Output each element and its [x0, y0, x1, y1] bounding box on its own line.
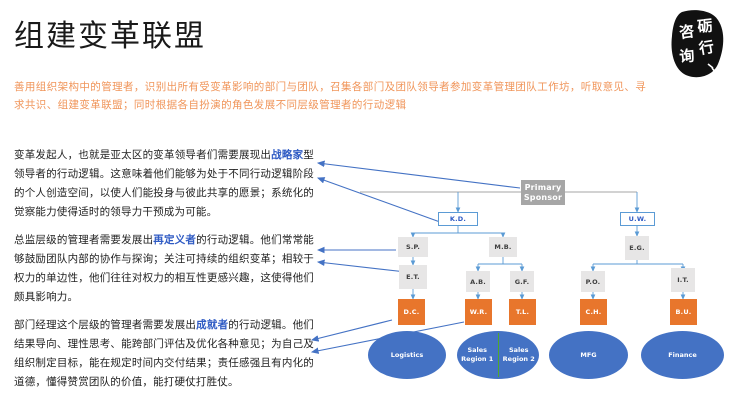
- org-unit-finance-label: Finance: [668, 351, 697, 360]
- org-node-uw[interactable]: U.W.: [620, 212, 655, 226]
- org-node-tl[interactable]: T.L.: [509, 299, 536, 325]
- slide-canvas: 组建变革联盟 善用组织架构中的管理者，识别出所有受变革影响的部门与团队，召集各部…: [0, 0, 736, 411]
- org-node-bu[interactable]: B.U.: [670, 299, 697, 325]
- org-unit-sales-region-2-label: Sales Region 2: [499, 346, 540, 364]
- org-node-kd[interactable]: K.D.: [438, 212, 478, 226]
- org-node-mb[interactable]: M.B.: [489, 237, 517, 257]
- org-node-eg[interactable]: E.G.: [625, 236, 649, 260]
- org-unit-sales[interactable]: Sales Region 1 Sales Region 2: [457, 331, 539, 379]
- org-unit-mfg[interactable]: MFG: [549, 331, 628, 379]
- org-node-sp[interactable]: S.P.: [398, 237, 428, 257]
- org-node-wr[interactable]: W.R.: [465, 299, 492, 325]
- org-node-et[interactable]: E.T.: [399, 265, 427, 289]
- org-node-gf[interactable]: G.F.: [510, 271, 534, 292]
- org-node-dc[interactable]: D.C.: [398, 299, 425, 325]
- org-unit-logistics-label: Logistics: [391, 351, 423, 360]
- org-node-ab[interactable]: A.B.: [466, 271, 490, 292]
- org-node-ch[interactable]: C.H.: [580, 299, 607, 325]
- org-node-it[interactable]: I.T.: [671, 268, 695, 292]
- org-node-po[interactable]: P.O.: [581, 271, 605, 292]
- org-node-primary-sponsor[interactable]: Primary Sponsor: [521, 180, 565, 205]
- org-unit-sales-region-1-label: Sales Region 1: [457, 346, 498, 364]
- org-unit-finance[interactable]: Finance: [641, 331, 724, 379]
- org-unit-logistics[interactable]: Logistics: [368, 331, 446, 379]
- org-unit-mfg-label: MFG: [580, 351, 596, 360]
